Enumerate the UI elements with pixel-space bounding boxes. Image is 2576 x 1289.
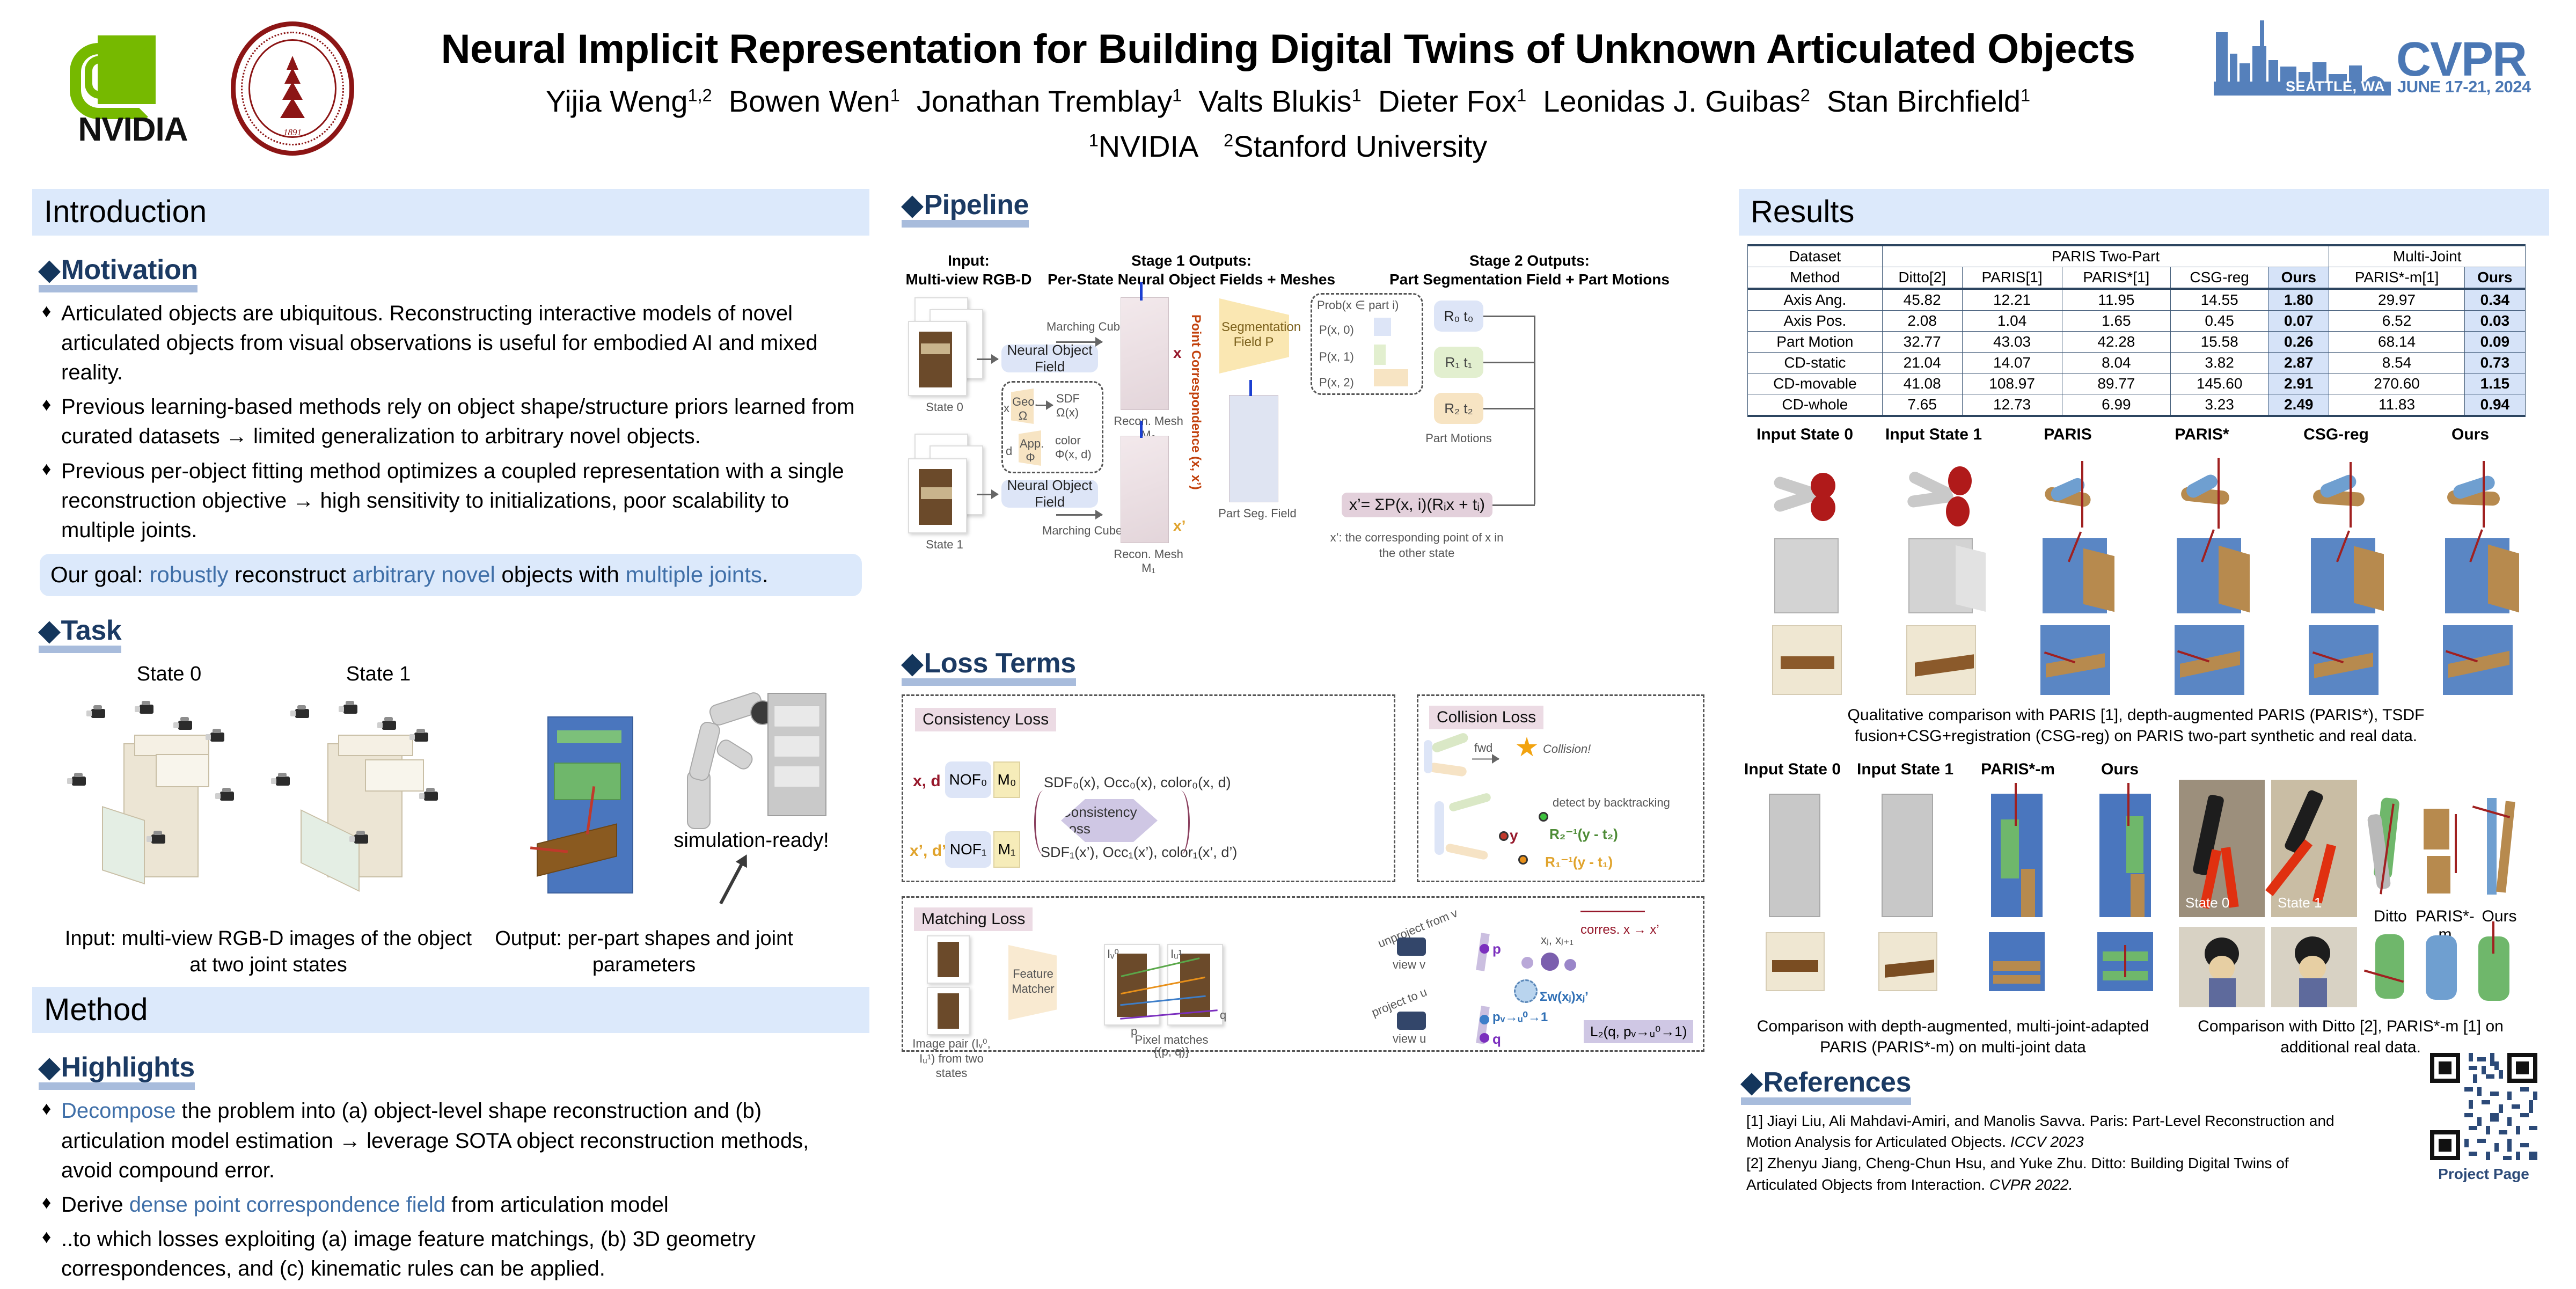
neural-object-field-box-1: Neural Object Field — [1001, 480, 1098, 508]
cell: 6.99 — [2062, 394, 2171, 416]
qual3-cell2-ditto — [2367, 930, 2415, 1005]
consistency-input-0: x, d — [913, 772, 941, 790]
goal-highlight-multiple-joints: multiple joints — [625, 562, 762, 587]
stanford-seal-logo: 1891 — [231, 21, 354, 156]
prob-swatch-2 — [1374, 369, 1408, 386]
table-group-header-multi-joint: Multi-Joint — [2329, 245, 2526, 267]
axis-arrow-up-icon — [1140, 282, 1143, 301]
weighted-sum-label: Σw(xⱼ)xⱼ’ — [1540, 989, 1589, 1005]
cvpr-wordmark: CVPR — [2396, 38, 2526, 82]
correspondence-legend: corres. x → x’ — [1580, 922, 1659, 938]
cell-ours: 0.26 — [2268, 331, 2329, 352]
prob-row-0: P(x, 0) — [1319, 323, 1354, 337]
qual2-cell2-paris-m — [1989, 932, 2045, 991]
consistency-input-1: x’, d’ — [910, 842, 946, 860]
table-row: CD-whole 7.65 12.73 6.99 3.23 2.49 11.83… — [1748, 394, 2526, 416]
collision-formula-2: R₂⁻¹(y - t₂) — [1549, 826, 1618, 843]
qual3-header-ditto: Ditto — [2365, 907, 2416, 926]
qual-cell-storage-state0 — [1772, 625, 1842, 695]
segmentation-field-label: Segmentation Field P — [1221, 320, 1286, 350]
qual2-cell-state1 — [1882, 794, 1933, 917]
table-col-csg-reg: CSG-reg — [2171, 267, 2268, 289]
nof-1-box: NOF₁ — [945, 831, 991, 868]
stanford-tree-icon — [280, 54, 305, 123]
camera-icon — [1397, 1012, 1426, 1030]
cell-ours: 0.07 — [2268, 310, 2329, 331]
author-list: Yijia Weng1,2 Bowen Wen1 Jonathan Trembl… — [376, 85, 2200, 118]
cell-ours: 0.03 — [2464, 310, 2525, 331]
table-col-ours-two-part: Ours — [2268, 267, 2329, 289]
nvidia-logo: NVIDIA — [64, 31, 201, 144]
matching-loss-tag: Matching Loss — [914, 907, 1033, 931]
collision-loss-card: Collision Loss fwd Collision! detect by … — [1417, 694, 1704, 882]
prob-title: Prob(x ∈ part i) — [1317, 298, 1399, 312]
cvpr-logo: SEATTLE, WA CVPR JUNE 17-21, 2024 — [2214, 16, 2563, 113]
list-item: Previous per-object fitting method optim… — [41, 457, 861, 546]
cell: 2.08 — [1882, 310, 1962, 331]
page-title: Neural Implicit Representation for Build… — [376, 28, 2200, 71]
qual2-cell-state0 — [1769, 794, 1820, 917]
qualitative-grid-2-3: Input State 0 Input State 1 PARIS*-m Our… — [1739, 760, 2549, 1061]
part-motion-0: R₀ t₀ — [1434, 301, 1483, 332]
metric-name: Axis Pos. — [1748, 310, 1883, 331]
cell: 7.65 — [1882, 394, 1962, 416]
list-item: Previous learning-based methods rely on … — [41, 392, 861, 451]
table-col-paris-star: PARIS*[1] — [2062, 267, 2171, 289]
cell: 11.95 — [2062, 289, 2171, 311]
nvidia-eye-icon — [98, 35, 156, 104]
cell: 45.82 — [1882, 289, 1962, 311]
cell: 1.65 — [2062, 310, 2171, 331]
axis-arrow-up-icon — [1140, 421, 1143, 438]
recon-mesh-1-label: Recon. Mesh M₁ — [1106, 547, 1191, 575]
cell: 11.83 — [2329, 394, 2464, 416]
view-u-label: view u — [1393, 1032, 1426, 1046]
metric-name: CD-static — [1748, 352, 1883, 373]
highlights-bullet-list: Decompose the problem into (a) object-le… — [41, 1096, 861, 1284]
table-row: CD-movable 41.08 108.97 89.77 145.60 2.9… — [1748, 373, 2526, 394]
goal-mid-2: objects with — [495, 562, 626, 587]
cell: 89.77 — [2062, 373, 2171, 394]
subsection-task: ◆Task — [39, 614, 121, 649]
metric-name: CD-movable — [1748, 373, 1883, 394]
qualitative-grid-1: Input State 0 Input State 1 PARIS PARIS*… — [1739, 422, 2549, 755]
pipeline-col-header-input: Input: Multi-view RGB-D — [902, 251, 1036, 289]
table-row: Part Motion 32.77 43.03 42.28 15.58 0.26… — [1748, 331, 2526, 352]
collision-burst-icon — [1516, 737, 1538, 758]
cell: 14.07 — [1962, 352, 2062, 373]
subsection-loss-terms: ◆Loss Terms — [902, 647, 1076, 682]
qr-code-label: Project Page — [2430, 1166, 2537, 1183]
section-header-introduction: Introduction — [32, 189, 869, 236]
diamond-bullet-icon: ◆ — [39, 615, 60, 646]
qual-cell-scissors-paris — [2039, 463, 2109, 528]
point-correspondence-label: Point Correspondence (x, x’) — [1182, 314, 1203, 540]
cell: 6.52 — [2329, 310, 2464, 331]
pipeline-figure: Input: Multi-view RGB-D Stage 1 Outputs:… — [902, 234, 1707, 642]
table-row-method-header: Method Ditto[2] PARIS[1] PARIS*[1] CSG-r… — [1748, 267, 2526, 289]
qual3-cell-paris-m — [2418, 793, 2467, 905]
cell-ours: 1.80 — [2268, 289, 2329, 311]
marching-cubes-label-1: Marching Cubes — [1042, 524, 1128, 538]
curved-arrow-right-icon — [1172, 790, 1190, 855]
matching-loss-card: Matching Loss Image pair (Iᵥ⁰, Iᵤ¹) from… — [902, 896, 1704, 1052]
table-group-header-paris-two-part: PARIS Two-Part — [1882, 245, 2329, 267]
task-object-state1 — [306, 722, 440, 883]
left-column: Introduction ◆Motivation Articulated obj… — [32, 189, 869, 1289]
task-state1-label: State 1 — [317, 663, 440, 686]
consistency-loss-hexagon: Consistency Loss — [1061, 799, 1158, 842]
color-output: colorΦ(x, d) — [1055, 434, 1103, 462]
cell: 8.04 — [2062, 352, 2171, 373]
task-state0-label: State 0 — [107, 663, 231, 686]
subsection-pipeline-label: Pipeline — [924, 189, 1029, 221]
qual2-header-3: Ours — [2077, 760, 2163, 779]
task-output-caption: Output: per-part shapes and joint parame… — [494, 926, 794, 979]
prob-swatch-0 — [1374, 318, 1391, 336]
section-header-method: Method — [32, 987, 869, 1034]
metric-name: Part Motion — [1748, 331, 1883, 352]
stanford-seal-year: 1891 — [236, 127, 349, 138]
qual2-caption: Comparison with depth-augmented, multi-j… — [1746, 1016, 2160, 1058]
recon-mesh-0 — [1121, 297, 1169, 410]
mesh-m1-box: M₁ — [993, 831, 1020, 868]
list-item: ..to which losses exploiting (a) image f… — [41, 1225, 861, 1284]
cell: 0.45 — [2171, 310, 2268, 331]
curved-arrow-left-icon — [1034, 790, 1052, 855]
diamond-bullet-icon: ◆ — [39, 254, 60, 285]
diamond-bullet-icon: ◆ — [902, 189, 923, 221]
diamond-bullet-icon: ◆ — [902, 648, 923, 679]
collision-fwd-label: fwd — [1474, 741, 1492, 755]
cell: 68.14 — [2329, 331, 2464, 352]
task-object-state0 — [102, 722, 236, 883]
cell: 43.03 — [1962, 331, 2062, 352]
qual1-header-2: PARIS — [2006, 426, 2129, 444]
real-state0-label: State 0 — [2185, 895, 2229, 911]
real-photo2-state0 — [2179, 927, 2265, 1007]
right-column: Results Dataset PARIS Two-Part Multi-Joi… — [1739, 189, 2549, 1196]
sdf-output: SDFΩ(x) — [1056, 392, 1099, 420]
input-thumbnail — [908, 458, 967, 533]
pipeline-state0-label: State 0 — [912, 400, 977, 414]
qual-cell-fridge-csg-reg — [2311, 538, 2375, 613]
cell-ours: 1.15 — [2464, 373, 2525, 394]
qual2-cell2-state0 — [1766, 932, 1825, 991]
cvpr-city-label: SEATTLE, WA — [2286, 78, 2385, 95]
part-motion-1: R₁ t₁ — [1434, 347, 1483, 378]
consistency-loss-tag: Consistency Loss — [915, 708, 1056, 731]
reference-item: [1] Jiayi Liu, Ali Mahdavi-Amiri, and Ma… — [1746, 1110, 2347, 1153]
pipeline-input-x: x — [1004, 401, 1009, 415]
qual-cell-fridge-paris — [2043, 538, 2107, 613]
table-col-paris: PARIS[1] — [1962, 267, 2062, 289]
pixel-matches-set: {(p, q)} — [1129, 1045, 1214, 1059]
cell-ours: 0.34 — [2464, 289, 2525, 311]
subsection-pipeline: ◆Pipeline — [902, 189, 1029, 223]
match-q-label: q — [1220, 1008, 1226, 1022]
qual-cell-fridge-state0 — [1774, 538, 1839, 613]
qual2-header-0: Input State 0 — [1739, 760, 1846, 779]
qual-cell-scissors-paris-star — [2173, 463, 2243, 528]
collision-formula-1: R₁⁻¹(y - t₁) — [1545, 854, 1613, 870]
arrow-right-icon — [1056, 341, 1102, 343]
motion-equation-caption: x’: the corresponding point of x in the … — [1326, 530, 1508, 561]
reference-item: [2] Zhenyu Jiang, Cheng-Chun Hsu, and Yu… — [1746, 1153, 2347, 1196]
qual-cell-scissors-ours — [2442, 463, 2512, 528]
list-item: Articulated objects are ubiquitous. Reco… — [41, 299, 861, 388]
qual-cell-scissors-state1 — [1905, 463, 1975, 528]
geo-label: Geo.Ω — [1012, 395, 1034, 423]
simulation-ready-label: simulation-ready! — [671, 829, 832, 852]
diamond-bullet-icon: ◆ — [39, 1052, 60, 1083]
arrow-right-icon — [977, 358, 998, 360]
point-p-marker: p — [1492, 941, 1501, 957]
task-figure: State 0 State 1 — [32, 657, 869, 979]
matching-image-1 — [927, 987, 970, 1035]
qual2-header-2: PARIS*-m — [1970, 760, 2066, 779]
qual2-cell-paris-m — [1991, 794, 2043, 917]
highlight-dense-field: dense point correspondence field — [129, 1193, 445, 1217]
part-seg-field-label: Part Seg. Field — [1217, 507, 1298, 521]
xprime-point-label: x’ — [1173, 517, 1185, 534]
cell: 1.04 — [1962, 310, 2062, 331]
qual-cell-storage-ours — [2443, 625, 2513, 695]
cell: 108.97 — [1962, 373, 2062, 394]
pipeline-state1-label: State 1 — [912, 538, 977, 552]
qual-cell-scissors-csg-reg — [2308, 463, 2377, 528]
pipeline-col-header-stage1: Stage 1 Outputs: Per-State Neural Object… — [1041, 251, 1342, 289]
prob-row-2: P(x, 2) — [1319, 376, 1354, 390]
table-col-ditto: Ditto[2] — [1882, 267, 1962, 289]
table-header-method: Method — [1748, 267, 1883, 289]
highlight-1-rest: from articulation model — [445, 1193, 669, 1217]
camera-icon — [1397, 938, 1426, 956]
qual-cell-storage-csg-reg — [2309, 625, 2379, 695]
point-q-marker: q — [1492, 1031, 1501, 1048]
cell: 21.04 — [1882, 352, 1962, 373]
arrow-right-icon — [1056, 514, 1102, 516]
references-block: ◆References [1] Jiayi Liu, Ali Mahdavi-A… — [1739, 1066, 2549, 1196]
xj-label: xⱼ, xⱼ₊₁ — [1541, 933, 1574, 947]
table-row: Axis Pos. 2.08 1.04 1.65 0.45 0.07 6.52 … — [1748, 310, 2526, 331]
table-row: Axis Ang. 45.82 12.21 11.95 14.55 1.80 2… — [1748, 289, 2526, 311]
qual1-header-3: PARIS* — [2140, 426, 2264, 444]
cell: 32.77 — [1882, 331, 1962, 352]
matching-image-0 — [927, 935, 970, 984]
qual1-header-1: Input State 1 — [1872, 426, 1995, 444]
collision-y-label: y — [1510, 827, 1518, 844]
qual1-header-0: Input State 0 — [1743, 426, 1867, 444]
metric-name: Axis Ang. — [1748, 289, 1883, 311]
cell: 3.23 — [2171, 394, 2268, 416]
cell: 15.58 — [2171, 331, 2268, 352]
part-motion-2: R₂ t₂ — [1434, 393, 1483, 424]
highlight-1-pre: Derive — [61, 1193, 129, 1217]
real-photo2-state1 — [2271, 927, 2357, 1007]
prob-row-1: P(x, 1) — [1319, 350, 1354, 364]
cell: 42.28 — [2062, 331, 2171, 352]
table-col-paris-star-m: PARIS*-m[1] — [2329, 267, 2464, 289]
cell: 29.97 — [2329, 289, 2464, 311]
goal-statement: Our goal: robustly reconstruct arbitrary… — [40, 554, 862, 596]
goal-highlight-arbitrary-novel: arbitrary novel — [353, 562, 495, 587]
matching-loss-row: Matching Loss Image pair (Iᵥ⁰, Iᵤ¹) from… — [902, 896, 1707, 1057]
mesh-m0-box: M₀ — [993, 761, 1020, 798]
qual-cell-scissors-state0 — [1771, 463, 1841, 528]
reference-1-venue: CVPR 2022. — [1989, 1176, 2073, 1193]
qual-cell-storage-paris — [2040, 625, 2110, 695]
middle-column: ◆Pipeline Input: Multi-view RGB-D Stage … — [902, 189, 1707, 1057]
qual-cell-fridge-paris-star — [2177, 538, 2241, 613]
subsection-highlights-label: Highlights — [61, 1052, 195, 1083]
pipeline-input-d: d — [1006, 444, 1012, 458]
part-seg-field-mesh — [1229, 395, 1278, 502]
image-pair-caption: Image pair (Iᵥ⁰, Iᵤ¹) from two states — [909, 1036, 994, 1081]
consistency-formula-top: SDF₀(x), Occ₀(x), color₀(x, d) — [1044, 774, 1231, 791]
view-v-label: view v — [1393, 958, 1425, 972]
qual3-cell2-paris-m — [2418, 930, 2467, 1005]
input-thumbnail — [908, 321, 967, 396]
subsection-motivation-label: Motivation — [61, 254, 198, 285]
nvidia-wordmark: NVIDIA — [64, 111, 201, 149]
iv0-label: Iᵥ⁰ — [1107, 947, 1119, 961]
cell-ours: 0.94 — [2464, 394, 2525, 416]
list-item: Derive dense point correspondence field … — [41, 1190, 861, 1220]
qual1-caption: Qualitative comparison with PARIS [1], d… — [1760, 705, 2512, 746]
loss-terms-row: Consistency Loss x, d x’, d’ NOF₀ M₀ NOF… — [902, 694, 1707, 888]
qual3-cell2-ours — [2470, 930, 2521, 1005]
cell: 3.82 — [2171, 352, 2268, 373]
cell: 145.60 — [2171, 373, 2268, 394]
consistency-loss-card: Consistency Loss x, d x’, d’ NOF₀ M₀ NOF… — [902, 694, 1395, 882]
cell-ours: 0.09 — [2464, 331, 2525, 352]
nof-0-box: NOF₀ — [945, 761, 991, 798]
cell-ours: 2.49 — [2268, 394, 2329, 416]
goal-highlight-robustly: robustly — [149, 562, 228, 587]
collision-exclaim: Collision! — [1543, 742, 1591, 756]
arrow-up-icon — [719, 862, 744, 904]
table-col-ours-multi-joint: Ours — [2464, 267, 2525, 289]
robot-arm-icon — [682, 690, 832, 829]
list-item: Decompose the problem into (a) object-le… — [41, 1096, 861, 1185]
section-header-results: Results — [1739, 189, 2549, 236]
subsection-references: ◆References — [1741, 1066, 1911, 1101]
consistency-formula-bottom: SDF₁(x’), Occ₁(x’), color₁(x’, d’) — [1041, 844, 1237, 861]
poster-header: NVIDIA 1891 Neural Implicit Representati… — [0, 0, 2576, 185]
reference-list: [1] Jiayi Liu, Ali Mahdavi-Amiri, and Ma… — [1746, 1110, 2347, 1196]
qual1-header-5: Ours — [2409, 426, 2532, 444]
prob-swatch-1 — [1374, 345, 1386, 365]
qual-cell-fridge-ours — [2445, 538, 2509, 613]
diamond-bullet-icon: ◆ — [1741, 1067, 1762, 1098]
qual3-header-ours: Ours — [2475, 907, 2523, 926]
real-state1-label: State 1 — [2278, 895, 2322, 911]
results-table: Dataset PARIS Two-Part Multi-Joint Metho… — [1747, 244, 2526, 417]
qual-cell-storage-paris-star — [2175, 625, 2244, 695]
cell: 41.08 — [1882, 373, 1962, 394]
cell: 270.60 — [2329, 373, 2464, 394]
qual1-header-4: CSG-reg — [2274, 426, 2398, 444]
marching-cubes-label-0: Marching Cubes — [1046, 320, 1132, 334]
backtracking-label: detect by backtracking — [1553, 796, 1670, 810]
cvpr-dates: JUNE 17-21, 2024 — [2397, 77, 2531, 97]
cell: 14.55 — [2171, 289, 2268, 311]
task-output-object — [526, 716, 665, 899]
motivation-bullet-list: Articulated objects are ubiquitous. Reco… — [41, 299, 861, 546]
highlight-decompose: Decompose — [61, 1099, 175, 1123]
part-motions-label: Part Motions — [1418, 431, 1499, 445]
table-row: CD-static 21.04 14.07 8.04 3.82 2.87 8.5… — [1748, 352, 2526, 373]
qual3-cell-ditto — [2367, 793, 2415, 905]
subsection-loss-terms-label: Loss Terms — [924, 648, 1076, 679]
goal-suffix: . — [762, 562, 769, 587]
table-header-dataset: Dataset — [1748, 245, 1883, 267]
app-label: App.Φ — [1020, 437, 1041, 465]
l2-loss-box: L₂(q, pᵥ→ᵤ⁰→1) — [1584, 1020, 1693, 1043]
goal-prefix: Our goal: — [50, 562, 149, 587]
cell-ours: 2.87 — [2268, 352, 2329, 373]
table-row-group-header: Dataset PARIS Two-Part Multi-Joint — [1748, 245, 2526, 267]
collision-loss-tag: Collision Loss — [1429, 706, 1543, 729]
axis-arrow-up-icon — [1249, 380, 1252, 396]
pipeline-col-header-stage2: Stage 2 Outputs: Part Segmentation Field… — [1358, 251, 1701, 289]
subsection-highlights: ◆Highlights — [39, 1051, 195, 1086]
subsection-motivation: ◆Motivation — [39, 254, 197, 288]
cell-ours: 0.73 — [2464, 352, 2525, 373]
subsection-task-label: Task — [61, 615, 122, 646]
feature-matcher-label: Feature Matcher — [1011, 966, 1056, 996]
qual2-cell2-state1 — [1878, 932, 1937, 991]
qual2-header-1: Input State 1 — [1851, 760, 1959, 779]
projected-p-label: pᵥ→ᵤ⁰→1 — [1492, 1009, 1548, 1025]
arrow-right-icon — [1036, 405, 1053, 406]
reference-0-venue: ICCV 2023 — [2010, 1133, 2084, 1150]
iu1-label: Iᵤ¹ — [1170, 947, 1182, 961]
goal-mid-1: reconstruct — [229, 562, 353, 587]
motion-equation: x’= ΣP(x, i)(Rᵢx + tᵢ) — [1342, 493, 1492, 517]
cell: 12.73 — [1962, 394, 2062, 416]
cell-ours: 2.91 — [2268, 373, 2329, 394]
qual3-caption: Comparison with Ditto [2], PARIS*-m [1] … — [2173, 1016, 2528, 1058]
qual2-cell2-ours — [2097, 932, 2153, 991]
qual-cell-fridge-state1 — [1908, 538, 1973, 613]
arrow-right-icon — [1472, 758, 1499, 760]
metric-name: CD-whole — [1748, 394, 1883, 416]
task-input-caption: Input: multi-view RGB-D images of the ob… — [64, 926, 472, 979]
qual-cell-storage-state1 — [1906, 625, 1976, 695]
cell: 12.21 — [1962, 289, 2062, 311]
subsection-references-label: References — [1763, 1067, 1911, 1098]
arrow-right-icon — [977, 494, 998, 495]
affiliation-list: 1NVIDIA 2Stanford University — [376, 129, 2200, 164]
qual2-cell-ours — [2099, 794, 2151, 917]
qual3-cell-ours — [2470, 793, 2521, 905]
x-point-label: x — [1173, 345, 1182, 362]
recon-mesh-1 — [1121, 436, 1169, 543]
cell: 8.54 — [2329, 352, 2464, 373]
neural-object-field-box-0: Neural Object Field — [1001, 345, 1098, 372]
